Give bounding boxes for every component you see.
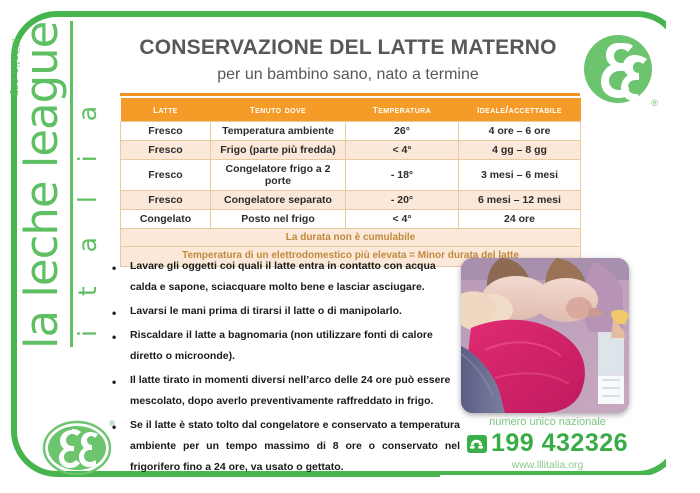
cell-temp: 26° bbox=[346, 122, 459, 141]
bullet-icon: • bbox=[112, 301, 116, 325]
table-row: Fresco Frigo (parte più fredda) < 4° 4 g… bbox=[121, 141, 581, 160]
column-header-ideale: Ideale/accettabile bbox=[459, 98, 581, 122]
table-row: Fresco Temperatura ambiente 26° 4 ore – … bbox=[121, 122, 581, 141]
list-item-text: Riscaldare il latte a bagnomaria (non ut… bbox=[130, 329, 433, 362]
table-note-1: La durata non è cumulabile bbox=[121, 229, 581, 247]
bullet-icon: • bbox=[112, 415, 116, 439]
cell-temp: - 20° bbox=[346, 191, 459, 210]
frame-mask-bottom bbox=[440, 475, 700, 493]
phone-number[interactable]: 199 432326 bbox=[491, 429, 628, 458]
list-item: • Lavarsi le mani prima di tirarsi il la… bbox=[108, 301, 460, 322]
column-header-tenuto-dove: Tenuto dove bbox=[211, 98, 346, 122]
table-row: Fresco Congelatore frigo a 2 porte - 18°… bbox=[121, 160, 581, 191]
cell-dove: Congelatore frigo a 2 porte bbox=[211, 160, 346, 191]
cell-latte: Fresco bbox=[121, 160, 211, 191]
list-item-text: Il latte tirato in momenti diversi nell’… bbox=[130, 374, 450, 407]
column-header-latte: Latte bbox=[121, 98, 211, 122]
cell-durata: 4 ore – 6 ore bbox=[459, 122, 581, 141]
column-header-temperatura: Temperatura bbox=[346, 98, 459, 122]
table-row: Congelato Posto nel frigo < 4° 24 ore bbox=[121, 210, 581, 229]
cell-latte: Fresco bbox=[121, 141, 211, 160]
bullet-icon: • bbox=[112, 256, 116, 280]
phone-line[interactable]: 199 432326 bbox=[455, 429, 640, 458]
cell-durata: 3 mesi – 6 mesi bbox=[459, 160, 581, 191]
contact-label: numero unico nazionale bbox=[455, 416, 640, 428]
page-subtitle: per un bambino sano, nato a termine bbox=[118, 66, 578, 84]
table-row: Fresco Congelatore separato - 20° 6 mesi… bbox=[121, 191, 581, 210]
lll-logo-outline-icon: ® bbox=[42, 420, 112, 476]
brand-sidebar: lllitalia.org la leche league i t a l i … bbox=[20, 22, 104, 472]
table-header-row: Latte Tenuto dove Temperatura Ideale/acc… bbox=[121, 98, 581, 122]
header-divider bbox=[120, 93, 580, 96]
cell-durata: 24 ore bbox=[459, 210, 581, 229]
cell-temp: < 4° bbox=[346, 141, 459, 160]
list-item: • Lavare gli oggetti coi quali il latte … bbox=[108, 256, 460, 298]
cell-latte: Congelato bbox=[121, 210, 211, 229]
table-note-row: La durata non è cumulabile bbox=[121, 229, 581, 247]
cell-durata: 4 gg – 8 gg bbox=[459, 141, 581, 160]
cell-latte: Fresco bbox=[121, 191, 211, 210]
breastfeeding-photo bbox=[461, 258, 629, 413]
brand-vertical-lockup: lllitalia.org la leche league i t a l i … bbox=[25, 19, 109, 349]
telephone-icon bbox=[467, 435, 487, 453]
poster: lllitalia.org la leche league i t a l i … bbox=[0, 0, 700, 493]
list-item: • Se il latte è stato tolto dal congelat… bbox=[108, 415, 460, 478]
cell-dove: Temperatura ambiente bbox=[211, 122, 346, 141]
cell-temp: - 18° bbox=[346, 160, 459, 191]
list-item-text: Lavarsi le mani prima di tirarsi il latt… bbox=[130, 305, 402, 317]
brand-country: i t a l i a bbox=[73, 17, 102, 337]
bullet-icon: • bbox=[112, 325, 116, 349]
list-item: • Il latte tirato in momenti diversi nel… bbox=[108, 370, 460, 412]
contact-block: numero unico nazionale 199 432326 www.ll… bbox=[455, 416, 640, 471]
list-item-text: Lavare gli oggetti coi quali il latte en… bbox=[130, 260, 436, 293]
registered-mark: ® bbox=[651, 98, 658, 108]
page-title: CONSERVAZIONE DEL LATTE MATERNO bbox=[118, 36, 578, 60]
cell-latte: Fresco bbox=[121, 122, 211, 141]
cell-dove: Frigo (parte più fredda) bbox=[211, 141, 346, 160]
frame-mask-right bbox=[666, 0, 700, 493]
instructions-list: • Lavare gli oggetti coi quali il latte … bbox=[108, 256, 460, 481]
website-link[interactable]: www.lllitalia.org bbox=[455, 459, 640, 471]
bullet-icon: • bbox=[112, 370, 116, 394]
cell-temp: < 4° bbox=[346, 210, 459, 229]
list-item: • Riscaldare il latte a bagnomaria (non … bbox=[108, 325, 460, 367]
cell-dove: Posto nel frigo bbox=[211, 210, 346, 229]
milk-storage-table: Latte Tenuto dove Temperatura Ideale/acc… bbox=[120, 98, 581, 267]
list-item-text: Se il latte è stato tolto dal congelator… bbox=[130, 419, 460, 473]
lll-logo-icon: ® bbox=[582, 33, 656, 107]
cell-dove: Congelatore separato bbox=[211, 191, 346, 210]
brand-name: la leche league bbox=[19, 19, 64, 349]
cell-durata: 6 mesi – 12 mesi bbox=[459, 191, 581, 210]
